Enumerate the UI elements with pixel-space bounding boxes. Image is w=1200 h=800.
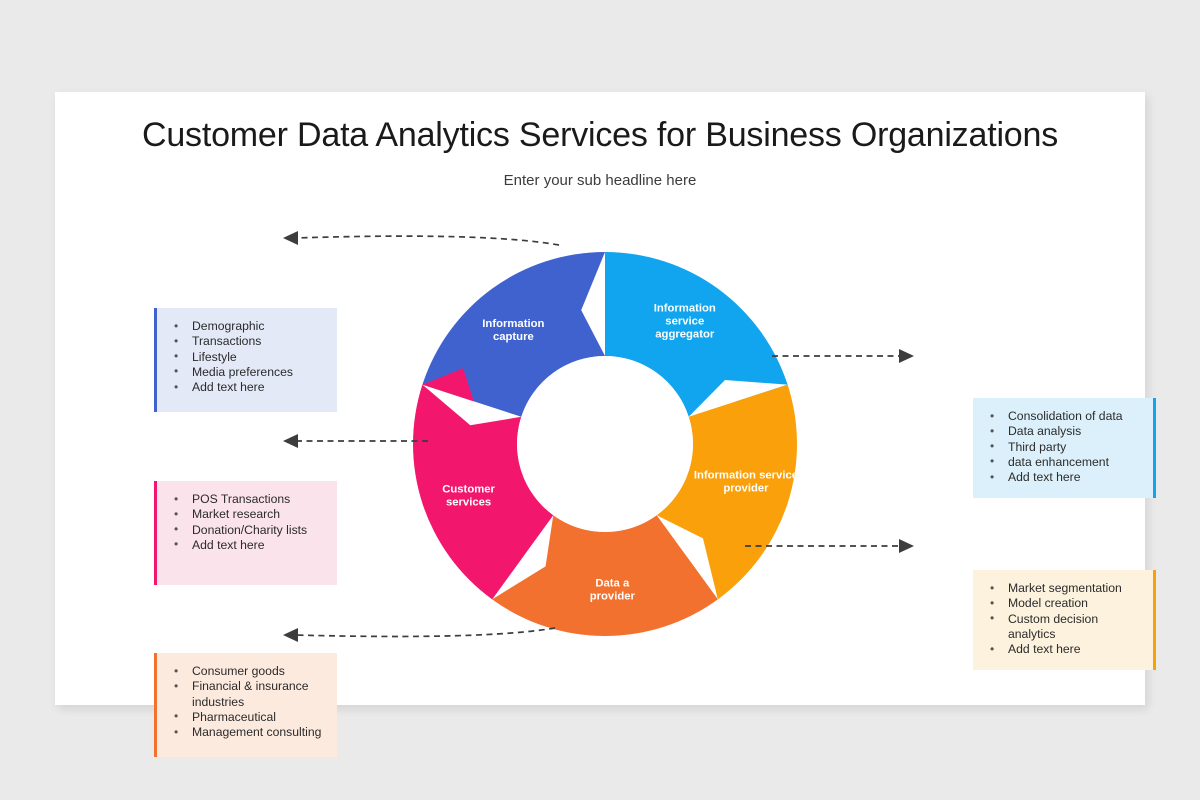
list-item: Add text here	[981, 642, 1143, 657]
list-item: Model creation	[981, 596, 1143, 611]
list-item: Market research	[165, 507, 327, 522]
page-title: Customer Data Analytics Services for Bus…	[55, 116, 1145, 155]
list-item: Transactions	[165, 334, 327, 349]
list-item: POS Transactions	[165, 492, 327, 507]
page-subtitle: Enter your sub headline here	[55, 172, 1145, 189]
list-item: Demographic	[165, 319, 327, 334]
list-item: Lifestyle	[165, 350, 327, 365]
slide-canvas: Customer Data Analytics Services for Bus…	[55, 92, 1145, 705]
callout-demographic-list: Demographic Transactions Lifestyle Media…	[165, 319, 327, 395]
list-item: Consumer goods	[165, 664, 327, 679]
callout-consumer-goods[interactable]: Consumer goods Financial & insurance ind…	[154, 653, 337, 757]
donut-center-hole	[517, 356, 693, 532]
list-item: Third party	[981, 440, 1143, 455]
callout-consolidation-of-data-list: Consolidation of data Data analysis Thir…	[981, 409, 1143, 485]
callout-pos-transactions-list: POS Transactions Market research Donatio…	[165, 492, 327, 553]
list-item: Consolidation of data	[981, 409, 1143, 424]
callout-demographic[interactable]: Demographic Transactions Lifestyle Media…	[154, 308, 337, 412]
list-item: Market segmentation	[981, 581, 1143, 596]
list-item: Add text here	[981, 470, 1143, 485]
donut-chart: InformationcaptureInformationserviceaggr…	[405, 244, 805, 644]
callout-consolidation-of-data[interactable]: Consolidation of data Data analysis Thir…	[973, 398, 1156, 498]
list-item: Add text here	[165, 538, 327, 553]
connector-information-capture	[283, 231, 559, 245]
list-item: Management consulting	[165, 725, 327, 740]
list-item: Financial & insurance industries	[165, 679, 315, 710]
list-item: Data analysis	[981, 424, 1143, 439]
callout-consumer-goods-list: Consumer goods Financial & insurance ind…	[165, 664, 327, 740]
list-item: Media preferences	[165, 365, 327, 380]
list-item: Pharmaceutical	[165, 710, 327, 725]
callout-pos-transactions[interactable]: POS Transactions Market research Donatio…	[154, 481, 337, 585]
callout-market-segmentation-list: Market segmentation Model creation Custo…	[981, 581, 1143, 657]
list-item: Donation/Charity lists	[165, 523, 327, 538]
donut-chart-svg: InformationcaptureInformationserviceaggr…	[405, 244, 805, 644]
donut-segment-label: Customerservices	[442, 484, 495, 509]
list-item: data enhancement	[981, 455, 1143, 470]
list-item: Custom decision analytics	[981, 612, 1101, 643]
list-item: Add text here	[165, 380, 327, 395]
donut-segment-label: Data aprovider	[590, 577, 636, 602]
callout-market-segmentation[interactable]: Market segmentation Model creation Custo…	[973, 570, 1156, 670]
